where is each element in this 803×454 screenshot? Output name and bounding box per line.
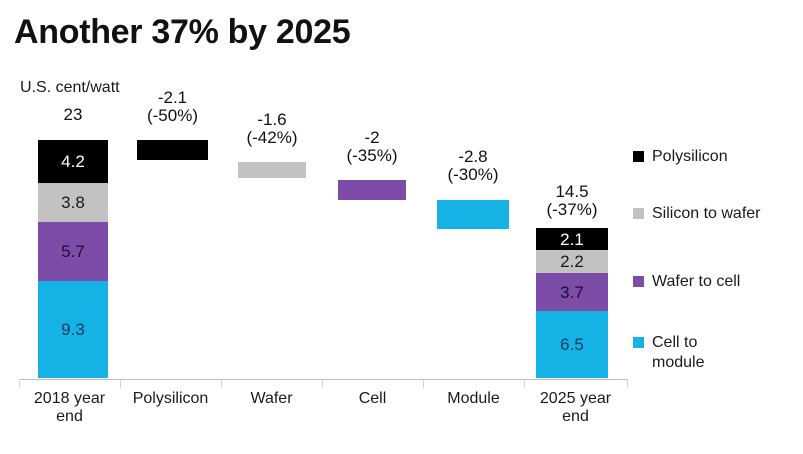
- end-bar-segment-polysilicon[interactable]: 2.1: [536, 228, 608, 250]
- axis-tick: [524, 379, 525, 388]
- legend-label-silicon-to-wafer: Silicon to wafer: [652, 204, 761, 224]
- axis-tick: [19, 379, 20, 388]
- slide-canvas: Another 37% by 2025 U.S. cent/watt 23 4.…: [0, 0, 803, 454]
- step-delta-cell: -2: [364, 128, 379, 147]
- start-segment-value-silicon-to-wafer: 3.8: [61, 194, 85, 211]
- start-segment-value-cell-to-module: 9.3: [61, 321, 85, 338]
- x-axis-label-2025-year-end: 2025 year end: [524, 390, 627, 426]
- start-bar-total: 23: [64, 105, 83, 124]
- start-bar-segment-cell-to-module[interactable]: 9.3: [38, 281, 108, 378]
- x-axis-label-line2: end: [562, 408, 589, 425]
- axis-tick: [120, 379, 121, 388]
- step-pct-cell: (-35%): [338, 147, 406, 165]
- legend-label-cell-to-module: Cell to module: [652, 333, 752, 372]
- end-bar-total-pct: (-37%): [536, 201, 608, 219]
- x-axis-label-line2: end: [56, 408, 83, 425]
- step-pct-polysilicon: (-50%): [137, 107, 208, 125]
- step-pct-wafer: (-42%): [238, 129, 306, 147]
- axis-tick: [627, 379, 628, 388]
- step-bar-wafer[interactable]: [238, 162, 306, 178]
- x-axis-label-line1: 2025 year: [540, 390, 611, 407]
- step-pct-module: (-30%): [437, 166, 509, 184]
- end-segment-value-wafer-to-cell: 3.7: [560, 284, 584, 301]
- legend-item-silicon-to-wafer[interactable]: Silicon to wafer: [633, 204, 761, 224]
- start-bar-segment-polysilicon[interactable]: 4.2: [38, 140, 108, 183]
- step-bar-cell[interactable]: [338, 180, 406, 200]
- start-bar-total-callout: 23: [38, 106, 108, 124]
- legend-label-wafer-to-cell: Wafer to cell: [652, 272, 740, 292]
- end-bar-segment-silicon-to-wafer[interactable]: 2.2: [536, 250, 608, 273]
- step-callout-polysilicon: -2.1 (-50%): [137, 89, 208, 126]
- legend-swatch-wafer-to-cell-icon: [633, 276, 644, 287]
- x-axis-label-cell: Cell: [322, 390, 423, 408]
- start-bar-segment-silicon-to-wafer[interactable]: 3.8: [38, 183, 108, 222]
- step-callout-module: -2.8 (-30%): [437, 148, 509, 185]
- step-delta-polysilicon: -2.1: [158, 88, 187, 107]
- start-segment-value-wafer-to-cell: 5.7: [61, 243, 85, 260]
- step-bar-polysilicon[interactable]: [137, 140, 208, 160]
- step-bar-module[interactable]: [437, 200, 509, 229]
- step-callout-cell: -2 (-35%): [338, 129, 406, 166]
- x-axis-label-2018-year-end: 2018 year end: [19, 390, 120, 426]
- end-segment-value-cell-to-module: 6.5: [560, 336, 584, 353]
- legend-label-polysilicon: Polysilicon: [652, 147, 728, 167]
- end-segment-value-polysilicon: 2.1: [560, 231, 584, 248]
- step-delta-wafer: -1.6: [257, 110, 286, 129]
- x-axis-label-line1: 2018 year: [34, 390, 105, 407]
- end-bar-segment-wafer-to-cell[interactable]: 3.7: [536, 273, 608, 311]
- legend-item-wafer-to-cell[interactable]: Wafer to cell: [633, 272, 740, 292]
- step-callout-wafer: -1.6 (-42%): [238, 111, 306, 148]
- axis-tick: [221, 379, 222, 388]
- legend-item-polysilicon[interactable]: Polysilicon: [633, 147, 728, 167]
- legend-swatch-polysilicon-icon: [633, 151, 644, 162]
- legend-swatch-silicon-to-wafer-icon: [633, 208, 644, 219]
- axis-tick: [423, 379, 424, 388]
- x-axis-label-wafer: Wafer: [221, 390, 322, 408]
- step-delta-module: -2.8: [458, 147, 487, 166]
- start-segment-value-polysilicon: 4.2: [61, 153, 85, 170]
- x-axis-line: [19, 379, 628, 380]
- x-axis-label-module: Module: [423, 390, 524, 408]
- start-bar-segment-wafer-to-cell[interactable]: 5.7: [38, 222, 108, 281]
- x-axis-label-polysilicon: Polysilicon: [120, 390, 221, 408]
- legend-swatch-cell-to-module-icon: [633, 337, 644, 348]
- end-bar-segment-cell-to-module[interactable]: 6.5: [536, 311, 608, 378]
- end-segment-value-silicon-to-wafer: 2.2: [560, 253, 584, 270]
- waterfall-chart: 23 4.2 3.8 5.7 9.3 -2.1 (-50%) -1.6 (-42…: [0, 0, 803, 454]
- end-bar-total: 14.5: [555, 182, 588, 201]
- legend-item-cell-to-module[interactable]: Cell to module: [633, 333, 752, 372]
- end-bar-total-callout: 14.5 (-37%): [536, 183, 608, 220]
- axis-tick: [322, 379, 323, 388]
